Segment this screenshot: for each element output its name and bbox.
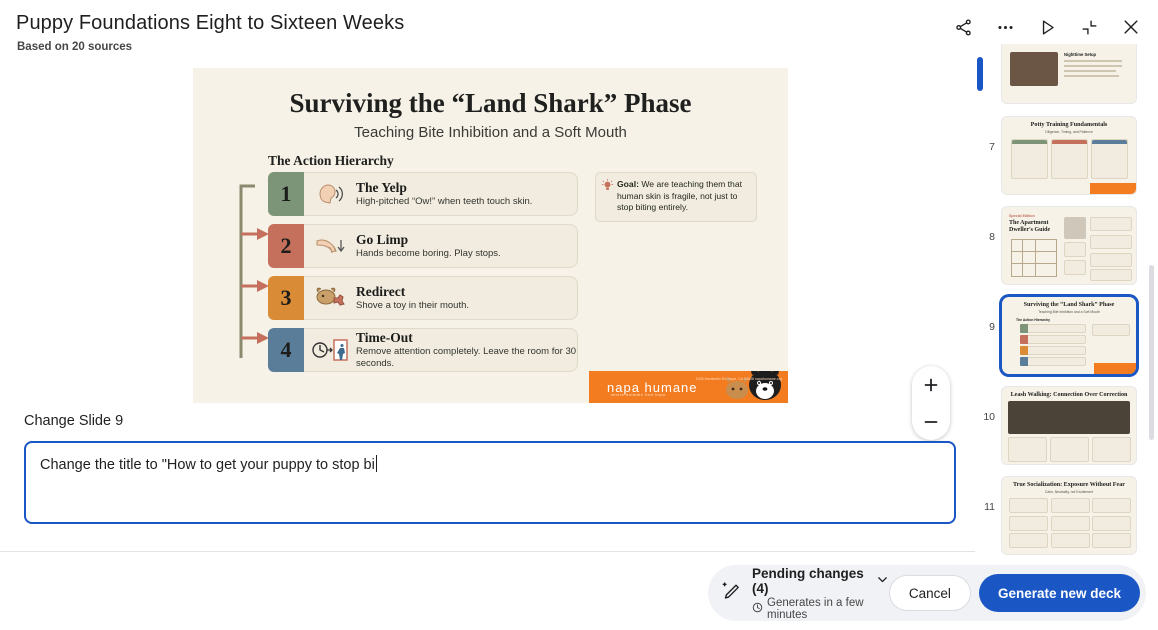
generation-status-text: Generates in a few minutes: [767, 597, 889, 621]
slide-title: Surviving the “Land Shark” Phase: [193, 88, 788, 119]
slide-thumbnail[interactable]: Potty Training Fundamentals Diligence, T…: [1002, 117, 1136, 194]
slide-preview[interactable]: Surviving the “Land Shark” Phase Teachin…: [193, 68, 788, 403]
thumbnail-number: 11: [983, 477, 995, 513]
thumbnail-item-selected[interactable]: 9 Surviving the “Land Shark” Phase Teach…: [983, 297, 1136, 374]
lightbulb-icon: [602, 179, 613, 214]
thumbnail-number: 8: [983, 207, 995, 243]
thumbnail-title: Nighttime Setup: [1064, 52, 1096, 57]
thumbnail-title: Surviving the “Land Shark” Phase: [1002, 302, 1136, 309]
thumbnail-number: 10: [983, 387, 995, 423]
section-label: The Action Hierarchy: [268, 153, 394, 169]
pending-changes-bar: Pending changes (4) Generates in a few m…: [708, 565, 1146, 621]
pending-changes-row[interactable]: Pending changes (4): [752, 566, 889, 596]
step-description: Shove a toy in their mouth.: [356, 300, 469, 312]
limp-hand-icon: [308, 226, 354, 266]
hierarchy-step[interactable]: 1 The Yelp High-pitched “Ow!” when teeth…: [268, 172, 578, 216]
thumbnail-brand-bar: [1094, 363, 1136, 374]
dog-toy-icon: [308, 278, 354, 318]
step-name: Redirect: [356, 284, 469, 300]
header-actions: [946, 10, 1148, 44]
share-icon[interactable]: [946, 10, 980, 44]
thumbnail-card: [1092, 437, 1131, 462]
step-number: 4: [268, 328, 304, 372]
thumbnail-item[interactable]: 6 Nighttime Setup: [983, 44, 1136, 103]
page-title: Puppy Foundations Eight to Sixteen Weeks: [16, 12, 404, 35]
zoom-in-button[interactable]: [912, 366, 950, 403]
magic-pencil-icon: [722, 580, 743, 607]
thumbnail-card: [1050, 437, 1089, 462]
clock-icon: [752, 602, 763, 616]
flow-arrows: [231, 172, 271, 384]
thumbnail-subtitle: Diligence, Timing, and Patience: [1002, 130, 1136, 134]
step-number: 2: [268, 224, 304, 268]
thumbnail-item[interactable]: 8 Special Edition The Apartment Dweller'…: [983, 207, 1136, 284]
yelp-mouth-icon: [308, 174, 354, 214]
goal-label: Goal:: [617, 179, 639, 189]
step-name: The Yelp: [356, 180, 532, 196]
thumbnail-cards: [1011, 139, 1128, 179]
step-number: 3: [268, 276, 304, 320]
generation-status: Generates in a few minutes: [752, 597, 889, 621]
step-number: 1: [268, 172, 304, 216]
hierarchy-step[interactable]: 3 Redirect Shove a toy i: [268, 276, 578, 320]
goal-callout: Goal: We are teaching them that human sk…: [595, 172, 757, 222]
thumbnail-card: [1092, 516, 1131, 531]
change-slide-input[interactable]: Change the title to "How to get your pup…: [24, 441, 956, 524]
pending-changes-texts: Pending changes (4) Generates in a few m…: [752, 566, 889, 621]
step-description: High-pitched “Ow!” when teeth touch skin…: [356, 196, 532, 208]
slide-thumbnail[interactable]: True Socialization: Exposure Without Fea…: [1002, 477, 1136, 554]
timeout-clock-door-icon: [308, 330, 354, 370]
thumbnail-subtitle: Special Edition: [1009, 214, 1035, 218]
thumbnail-title: True Socialization: Exposure Without Fea…: [1002, 482, 1136, 489]
play-icon[interactable]: [1030, 10, 1064, 44]
thumbnail-card: [1092, 533, 1131, 548]
bottom-divider: [0, 551, 975, 552]
thumbnail-subtitle: Teaching Bite Inhibition and a Soft Mout…: [1002, 310, 1136, 314]
generate-new-deck-button[interactable]: Generate new deck: [979, 574, 1140, 612]
thumbnail-title: Leash Walking: Connection Over Correctio…: [1002, 392, 1136, 399]
thumbnail-brand-bar: [1090, 183, 1136, 194]
thumbnail-photo: [1008, 401, 1130, 434]
slide-editor-app: Puppy Foundations Eight to Sixteen Weeks…: [0, 0, 1158, 630]
thumbnail-title: The Apartment Dweller's Guide: [1009, 220, 1059, 233]
slide-subtitle: Teaching Bite Inhibition and a Soft Mout…: [193, 124, 788, 141]
thumbnail-item[interactable]: 11 True Socialization: Exposure Without …: [983, 477, 1136, 554]
thumbnail-icon-grid: [1009, 498, 1131, 548]
step-name: Go Limp: [356, 232, 501, 248]
action-hierarchy-list: 1 The Yelp High-pitched “Ow!” when teeth…: [268, 172, 578, 380]
thumbnail-card: [1009, 516, 1048, 531]
thumbnail-card: [1051, 516, 1090, 531]
slide-thumbnail[interactable]: Leash Walking: Connection Over Correctio…: [1002, 387, 1136, 464]
rail-scrollbar[interactable]: [1149, 265, 1154, 440]
slide-thumbnail[interactable]: Special Edition The Apartment Dweller's …: [1002, 207, 1136, 284]
thumbnail-card: [1011, 139, 1048, 179]
thumbnail-title: Potty Training Fundamentals: [1002, 122, 1136, 129]
thumbnail-card: [1051, 139, 1088, 179]
slide-thumbnail-rail[interactable]: 6 Nighttime Setup 7 Potty Training Funda…: [975, 44, 1158, 559]
collapse-icon[interactable]: [1072, 10, 1106, 44]
thumbnail-card: [1092, 498, 1131, 513]
thumbnail-number: 7: [983, 117, 995, 153]
step-name: Time-Out: [356, 330, 577, 346]
chevron-down-icon[interactable]: [876, 573, 889, 589]
thumbnail-cards: [1008, 437, 1131, 462]
thumbnail-card: [1051, 498, 1090, 513]
prompt-label: Change Slide 9: [24, 413, 123, 429]
thumbnail-card: [1091, 139, 1128, 179]
brand-tagline: where animals find hope: [611, 392, 666, 397]
more-options-icon[interactable]: [988, 10, 1022, 44]
thumbnail-card: [1008, 437, 1047, 462]
pending-changes-label: Pending changes (4): [752, 566, 870, 596]
hierarchy-step[interactable]: 2 Go Limp Hands become boring. Play stop…: [268, 224, 578, 268]
goal-text: Goal: We are teaching them that human sk…: [617, 179, 749, 214]
thumbnail-subtitle: Calm, Neutrality, not Excitement: [1002, 490, 1136, 494]
slide-thumbnail[interactable]: Surviving the “Land Shark” Phase Teachin…: [1002, 297, 1136, 374]
slide-thumbnail[interactable]: Nighttime Setup: [1002, 44, 1136, 103]
zoom-control: [912, 366, 950, 440]
step-description: Hands become boring. Play stops.: [356, 248, 501, 260]
hierarchy-step[interactable]: 4 Ti: [268, 328, 578, 372]
step-description: Remove attention completely. Leave the r…: [356, 346, 577, 370]
pets-photo: [717, 371, 787, 403]
zoom-out-button[interactable]: [912, 403, 950, 440]
thumbnail-item[interactable]: 10 Leash Walking: Connection Over Correc…: [983, 387, 1136, 464]
text-cursor: [376, 455, 377, 472]
thumbnail-card: [1009, 498, 1048, 513]
sources-subtitle: Based on 20 sources: [17, 41, 132, 53]
slide-canvas-area: Surviving the “Land Shark” Phase Teachin…: [0, 58, 975, 403]
thumbnail-card: [1051, 533, 1090, 548]
brand-address: 1005 Monticello Rd Napa, CA 94558 napahu…: [696, 377, 782, 382]
brand-footer: napa humane where animals find hope: [589, 371, 788, 403]
thumbnail-number: 9: [983, 297, 995, 333]
close-icon[interactable]: [1114, 10, 1148, 44]
thumbnail-item[interactable]: 7 Potty Training Fundamentals Diligence,…: [983, 117, 1136, 194]
cancel-button[interactable]: Cancel: [889, 575, 971, 611]
prompt-text-value: Change the title to "How to get your pup…: [40, 457, 375, 473]
thumbnail-card: [1009, 533, 1048, 548]
